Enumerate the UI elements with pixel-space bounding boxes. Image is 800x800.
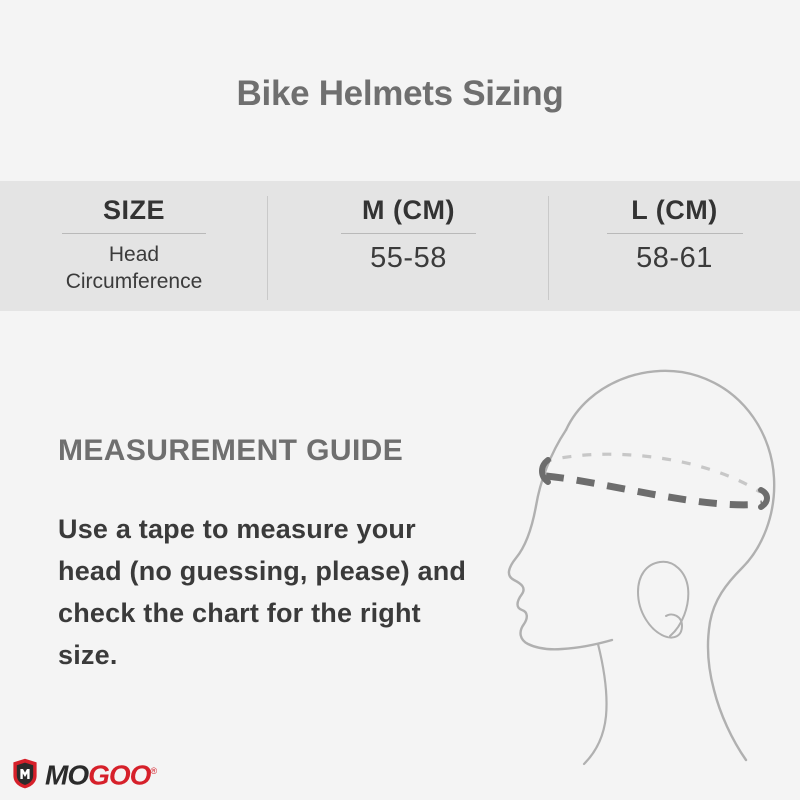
registered-mark-icon: ® xyxy=(150,766,156,776)
size-column-medium: M (CM) 55-58 xyxy=(268,181,549,311)
head-profile-svg xyxy=(470,350,800,770)
tape-left-end xyxy=(542,460,548,482)
tape-back-dashed-arc xyxy=(543,454,760,492)
column-value-m: 55-58 xyxy=(370,241,447,275)
size-column-label: SIZE Head Circumference xyxy=(0,181,268,311)
size-column-large: L (CM) 58-61 xyxy=(549,181,800,311)
page-title: Bike Helmets Sizing xyxy=(0,72,800,116)
column-subtext-head-circumference: Head Circumference xyxy=(66,241,203,295)
ear-inner-line xyxy=(660,562,688,636)
logo-text-mo: MO xyxy=(45,759,88,790)
column-value-l: 58-61 xyxy=(636,241,713,275)
neck-front-line xyxy=(584,644,607,764)
tape-front-dashed-arc xyxy=(546,476,762,505)
shield-badge-icon xyxy=(12,758,38,789)
brand-logo: MOGOO® xyxy=(12,756,156,790)
skull-back-outline xyxy=(566,371,774,760)
column-rule xyxy=(607,233,743,234)
face-profile-outline xyxy=(509,430,612,649)
column-header-l: L (CM) xyxy=(631,193,717,227)
ear-outline xyxy=(638,562,682,638)
column-rule xyxy=(62,233,206,234)
column-header-m: M (CM) xyxy=(362,193,455,227)
logo-text-goo: GOO xyxy=(88,759,150,790)
column-rule xyxy=(341,233,476,234)
tape-right-end xyxy=(761,490,767,507)
column-header-size: SIZE xyxy=(103,193,165,227)
head-profile-illustration xyxy=(470,350,800,770)
measurement-guide-heading: MEASUREMENT GUIDE xyxy=(58,432,403,470)
measurement-guide-body: Use a tape to measure your head (no gues… xyxy=(58,508,478,676)
logo-wordmark: MOGOO® xyxy=(45,756,156,790)
size-chart-table: SIZE Head Circumference M (CM) 55-58 L (… xyxy=(0,181,800,311)
